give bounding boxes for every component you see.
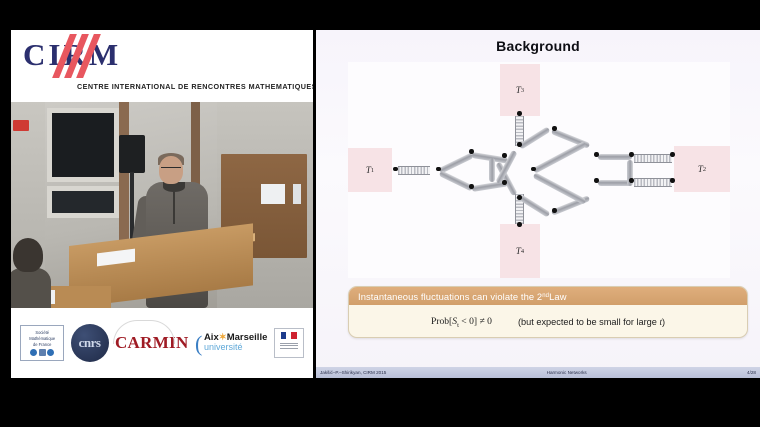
reservoir-T1-index: 1 [371,167,374,174]
rf-text-lines [280,341,298,349]
node-T3-contact [517,111,522,116]
node-bottom-junction [517,195,522,200]
reservoir-T3-index: 3 [521,87,524,94]
smf-line-3: de France [33,342,51,347]
video-player-stage: CIRM CENTRE INTERNATIONAL DE RENCONTRES … [0,0,760,427]
reservoir-T3: T3 [500,64,540,116]
smf-logo: Société Mathématique de France [20,325,64,361]
door-frame [119,102,129,244]
node-right-upper-2 [629,152,634,157]
spring-right-upper [634,154,672,163]
carmin-logo: CARMIN [115,333,189,353]
wall-notice [261,184,285,204]
node-right-upper [594,152,599,157]
formula-prefix: Prob[ [431,316,452,327]
rod-left-lower [439,170,474,191]
audience-member-body [11,268,51,308]
node-left-lower [469,184,474,189]
node-top-junction [517,142,522,147]
node-lower-right-inner [552,208,557,213]
rod-diag-lower [533,172,587,205]
lecture-video-feed[interactable] [11,102,313,308]
harmonic-network-diagram: T3 T4 T1 T2 [348,62,730,278]
republique-francaise-logo [274,328,304,358]
amu-logo: ( Aix✶Marseille université [195,333,267,352]
reservoir-T1: T1 [348,148,392,192]
smf-dot-icon [30,349,37,356]
rod-left-upper [439,153,474,174]
carmin-arc-icon [113,320,175,344]
glasses-icon [161,167,181,171]
callout-heading: Instantaneous fluctuations can violate t… [349,287,747,305]
node-mid-lower-left [502,180,507,185]
reservoir-T2-index: 2 [703,166,706,173]
presentation-slide[interactable]: Background T3 T4 T1 T2 [316,30,760,378]
node-left-upper [469,149,474,154]
wall-notice-2 [293,184,301,204]
exit-sign-icon [13,120,29,131]
smf-dot-icon [47,349,54,356]
node-right-lower [594,178,599,183]
window-lower [47,186,119,218]
formula-suffix: < 0] ≠ 0 [459,316,492,327]
spring-right-lower [634,178,672,187]
footer-authors: Jakšić–P.–Shirikyan, CIRM 2015 [320,370,386,375]
smf-square-icon [39,349,46,356]
slide-footer: Jakšić–P.–Shirikyan, CIRM 2015 Harmonic … [316,367,760,378]
callout-note: (but expected to be small for large t) [518,317,665,327]
node-left-hub [436,167,441,172]
loudspeaker-icon [119,135,145,173]
spring-left [398,166,430,175]
amu-paren-icon: ( [195,331,202,357]
reservoir-T4-index: 4 [521,248,524,255]
node-right-lower-2 [629,178,634,183]
speaker-zipper [173,190,175,224]
rod-right-upper [598,154,632,160]
sponsor-carmin: CARMIN [115,333,189,353]
node-mid-upper-left [502,153,507,158]
node-T2-contact-lower [670,178,675,183]
sponsor-republique-francaise [274,328,304,358]
cirm-tagline: CENTRE INTERNATIONAL DE RENCONTRES MATHE… [77,82,313,91]
reservoir-T4: T4 [500,224,540,278]
rod-diag-upper [533,141,587,174]
callout-body: Prob[St < 0] ≠ 0 (but expected to be sma… [349,305,747,338]
node-T1-contact [393,167,398,172]
probability-formula: Prob[St < 0] ≠ 0 [431,316,492,329]
window-upper [47,108,119,182]
sponsor-smf: Société Mathématique de France [20,325,64,361]
conclusion-callout: Instantaneous fluctuations can violate t… [348,286,748,338]
callout-heading-pre: Instantaneous fluctuations can violate t… [358,291,542,302]
sponsor-amu: ( Aix✶Marseille université [195,333,267,352]
node-center [531,167,536,172]
node-upper-right-inner [552,126,557,131]
footer-page-number: 4/28 [747,370,756,375]
cnrs-logo: cnrs [71,324,109,362]
slide-title: Background [316,38,760,54]
smf-line-1: Société [35,330,49,335]
audience-member-head [13,238,43,272]
note-prefix: (but expected to be small for large [518,317,659,327]
amu-line-2: université [204,343,267,352]
rod-left-vertical [489,158,495,182]
reservoir-T2: T2 [674,146,730,192]
sponsor-logo-strip: Société Mathématique de France cnrs CARM… [11,308,313,378]
node-T4-contact [517,222,522,227]
sponsor-cnrs: cnrs [71,324,109,362]
note-suffix: ) [662,317,665,327]
callout-heading-post: Law [549,291,567,302]
smf-line-2: Mathématique [29,336,55,341]
callout-heading-ordinal: nd [542,293,549,299]
cirm-logo-block: CIRM CENTRE INTERNATIONAL DE RENCONTRES … [11,30,313,102]
node-T2-contact-upper [670,152,675,157]
smf-icon-row [30,349,54,356]
left-branding-panel: CIRM CENTRE INTERNATIONAL DE RENCONTRES … [11,30,313,378]
footer-talk-title: Harmonic Networks [386,370,747,375]
french-flag-icon [281,332,297,339]
